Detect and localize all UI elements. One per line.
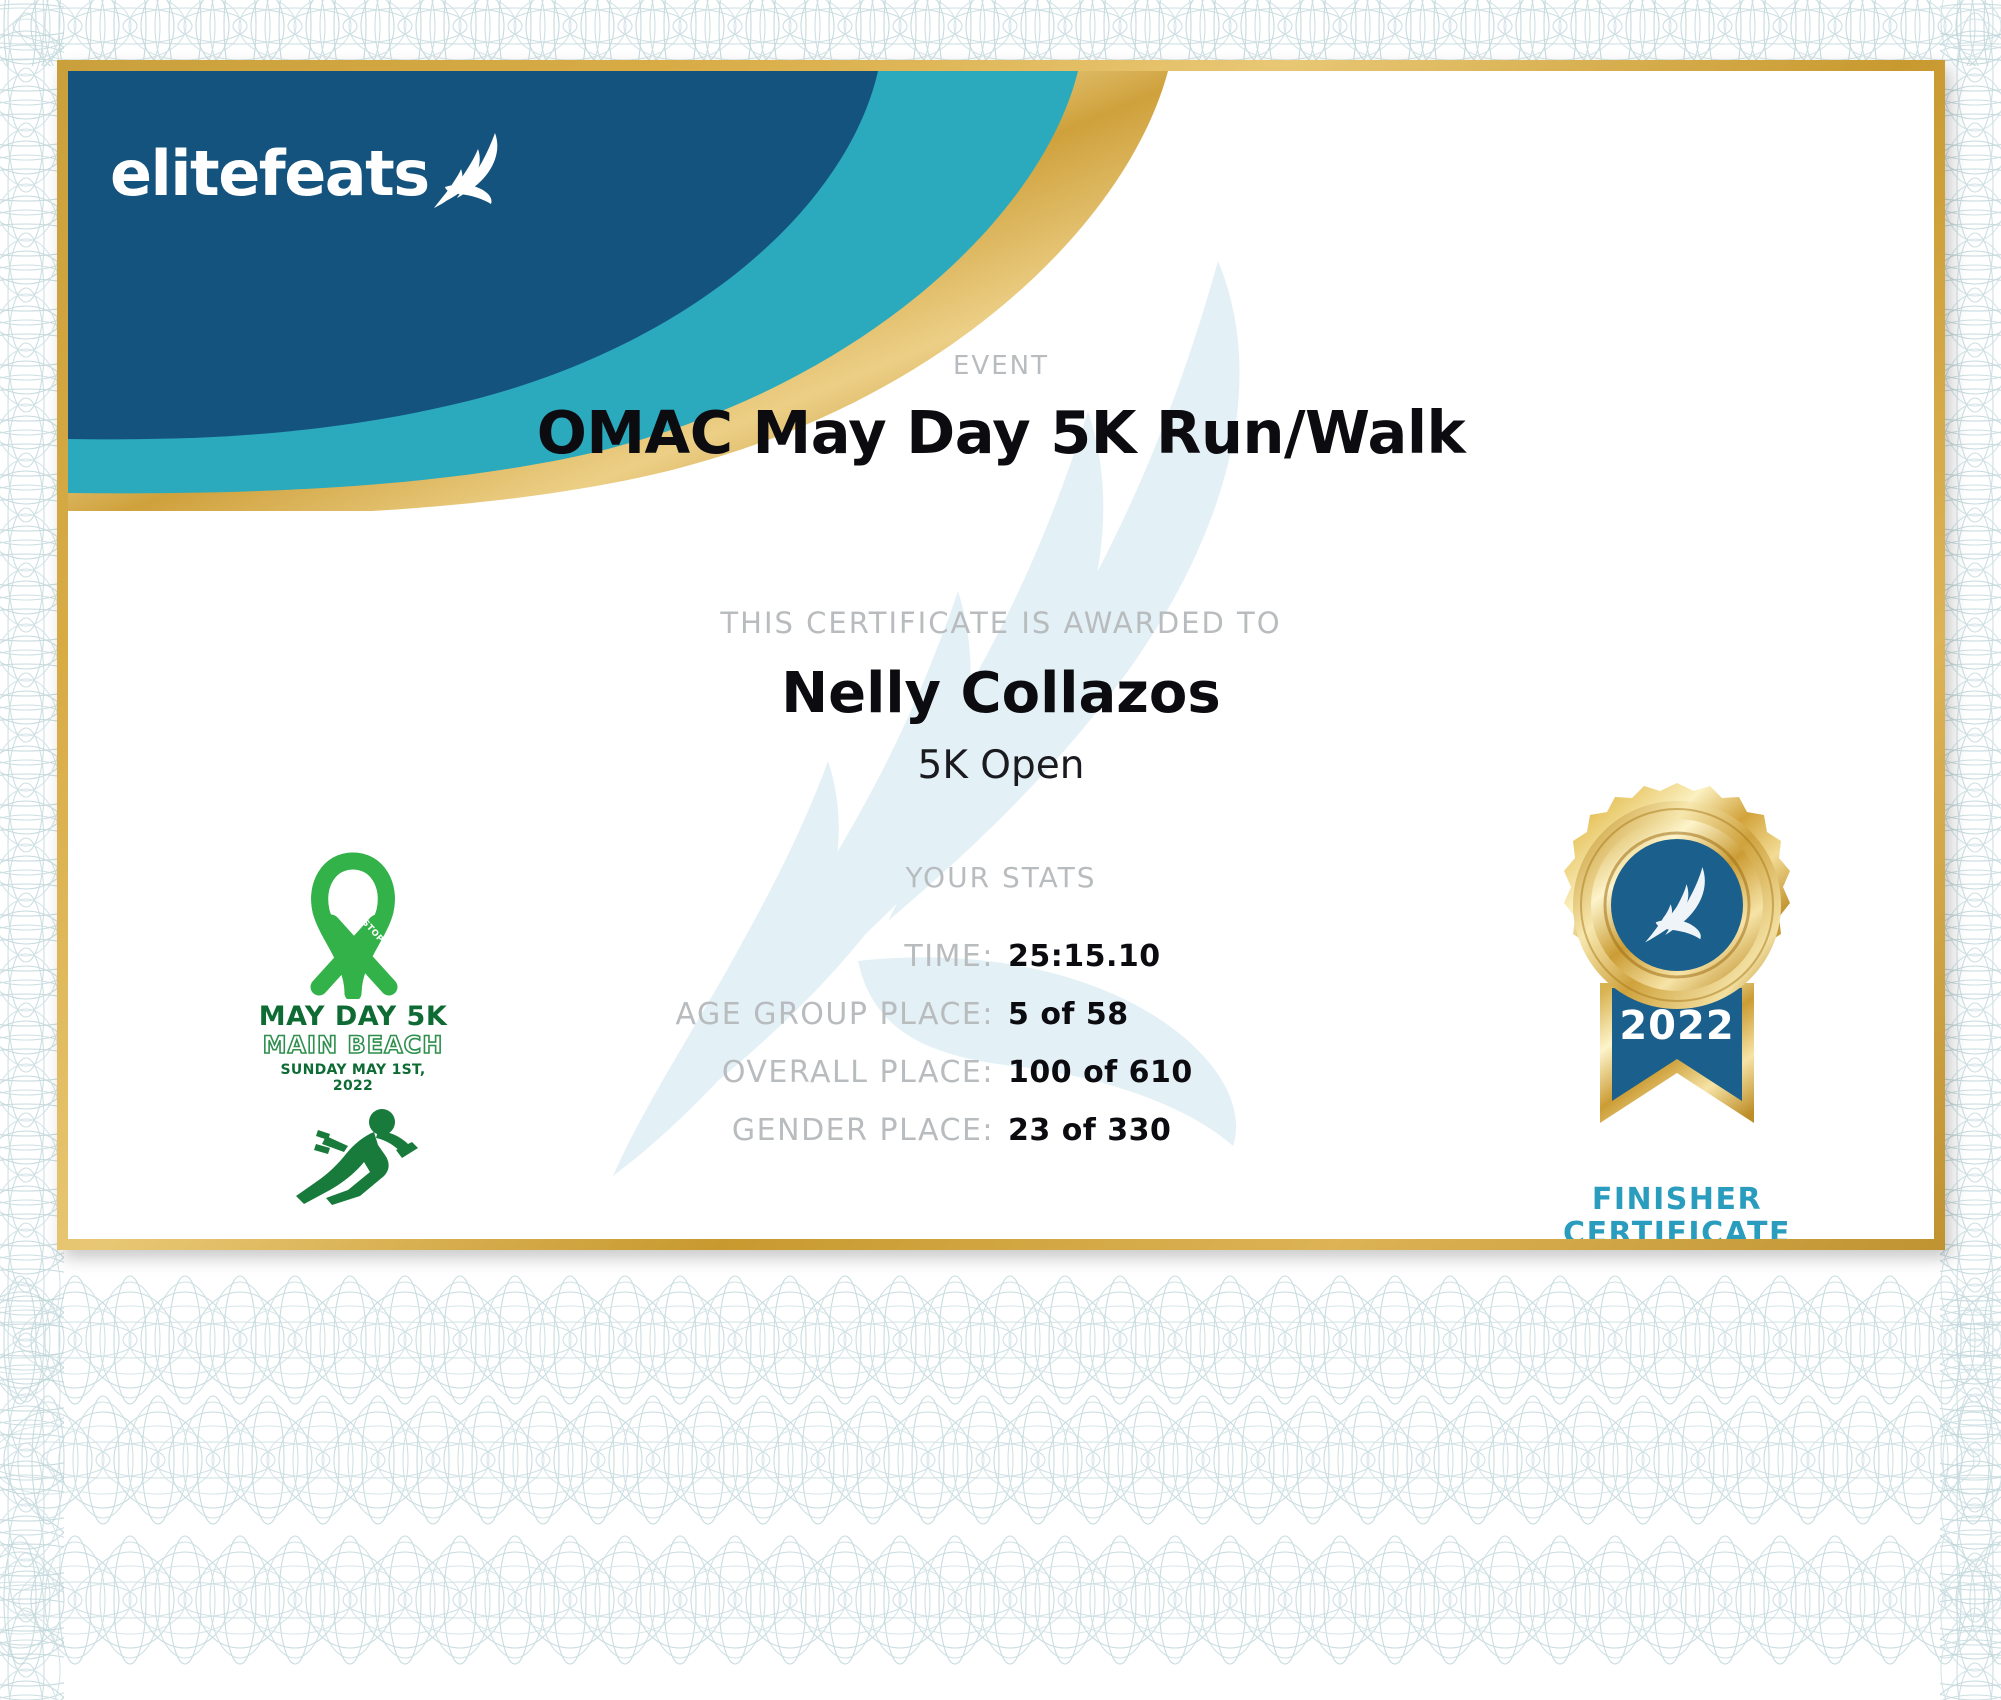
recipient-name: Nelly Collazos [68, 661, 1934, 726]
awareness-ribbon-icon: #STOP THE STIGMA [291, 851, 416, 999]
event-label: EVENT [68, 351, 1934, 381]
race-logo: #STOP THE STIGMA MAY DAY 5K MAIN BEACH S… [258, 851, 448, 1208]
stat-label: OVERALL PLACE: [524, 1055, 994, 1090]
gold-certificate-frame: elitefeats EVENT OMAC May Day 5K Run/Wal… [57, 60, 1945, 1250]
certificate-page: elitefeats EVENT OMAC May Day 5K Run/Wal… [0, 0, 2001, 1700]
stat-label: AGE GROUP PLACE: [524, 997, 994, 1032]
division-name: 5K Open [68, 743, 1934, 788]
seal-rosette [1564, 783, 1790, 1009]
stat-value: 23 of 330 [994, 1113, 1478, 1148]
finisher-seal: 2022 FINISHER CERTIFICATE [1512, 783, 1842, 1239]
awarded-to-label: THIS CERTIFICATE IS AWARDED TO [68, 606, 1934, 640]
race-logo-title: MAY DAY 5K [258, 1001, 448, 1032]
stat-label: GENDER PLACE: [524, 1113, 994, 1148]
race-logo-date: SUNDAY MAY 1ST, 2022 [258, 1062, 448, 1094]
gold-rosette-medal-icon: 2022 [1542, 783, 1812, 1183]
race-logo-subtitle: MAIN BEACH [258, 1031, 448, 1059]
stat-value: 5 of 58 [994, 997, 1478, 1032]
stat-value: 25:15.10 [994, 939, 1478, 974]
certificate-sheet: elitefeats EVENT OMAC May Day 5K Run/Wal… [68, 71, 1934, 1239]
seal-caption-line2: CERTIFICATE [1512, 1217, 1842, 1239]
seal-caption-line1: FINISHER [1512, 1183, 1842, 1217]
running-silhouette-icon [278, 1100, 428, 1208]
stat-value: 100 of 610 [994, 1055, 1478, 1090]
stat-label: TIME: [524, 939, 994, 974]
seal-year: 2022 [1619, 1003, 1734, 1049]
event-title: OMAC May Day 5K Run/Walk [68, 398, 1934, 467]
